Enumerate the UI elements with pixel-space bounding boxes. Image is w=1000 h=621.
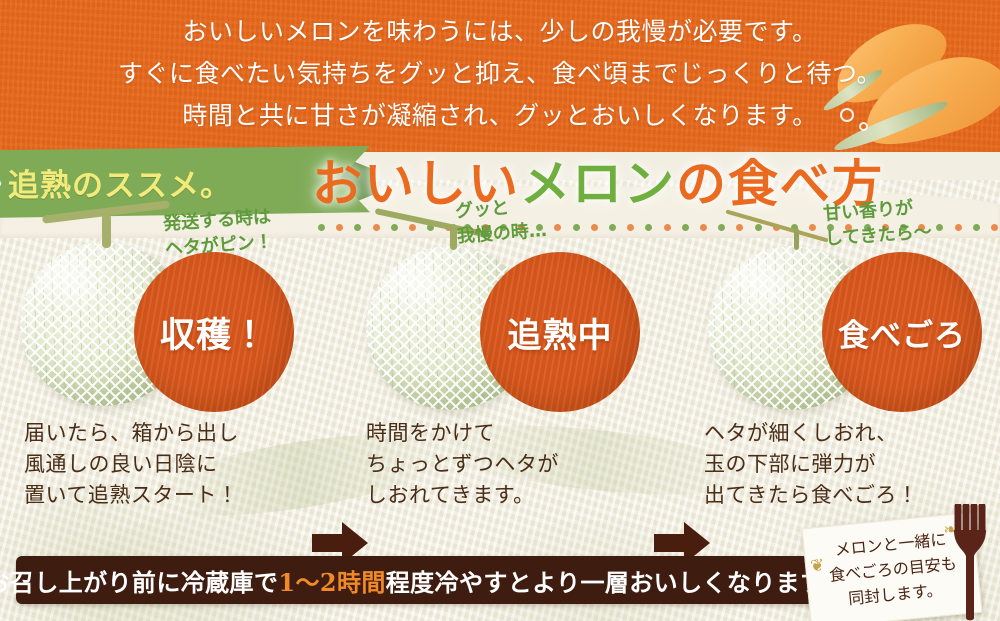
step-3-description: ヘタが細くしおれ、 玉の下部に弾力が 出てきたら食べごろ！ xyxy=(704,418,918,511)
step-3-badge: 食べごろ xyxy=(822,252,982,412)
header-line-2: すぐに食べたい気持ちをグッと抑え、食べ頃までじっくりと待つ。 xyxy=(0,53,1000,95)
step-1-badge-label: 収穫！ xyxy=(160,307,268,358)
step-2-description: 時間をかけて ちょっとずつヘタが しおれてきます。 xyxy=(366,418,559,511)
bottom-tip-bar: お召し上がり前に冷蔵庫で1〜2時間程度冷やすとより一層おいしくなります。 xyxy=(16,556,816,604)
header-banner: おいしいメロンを味わうには、少しの我慢が必要です。 すぐに食べたい気持ちをグッと… xyxy=(0,0,1000,152)
step-1-handnote: 発送する時は ヘタがピン！ xyxy=(162,204,273,261)
step-1-description: 届いたら、箱から出し 風通しの良い日陰に 置いて追熟スタート！ xyxy=(24,418,239,511)
step-2-handnote: グッと 我慢の時… xyxy=(454,193,547,249)
fork-icon xyxy=(950,504,992,621)
step-harvest: 発送する時は ヘタがピン！ 収穫！ 届いたら、箱から出し 風通しの良い日陰に 置… xyxy=(6,190,324,520)
header-line-1: おいしいメロンを味わうには、少しの我慢が必要です。 xyxy=(0,11,1000,53)
step-1-badge: 収穫！ xyxy=(134,252,294,412)
step-2-badge: 追熟中 xyxy=(480,252,640,412)
step-ripening: グッと 我慢の時… 追熟中 時間をかけて ちょっとずつヘタが しおれてきます。 xyxy=(352,190,670,520)
infographic-root: おいしいメロンを味わうには、少しの我慢が必要です。 すぐに食べたい気持ちをグッと… xyxy=(0,0,1000,621)
bottom-tip-text: お召し上がり前に冷蔵庫で1〜2時間程度冷やすとより一層おいしくなります。 xyxy=(0,563,846,598)
flourish-ornament-icon: ❦ xyxy=(809,553,835,579)
step-3-badge-label: 食べごろ xyxy=(838,310,966,355)
bottom-tip-before: お召し上がり前に冷蔵庫で xyxy=(0,568,278,597)
stem-stalk xyxy=(794,228,799,250)
step-3-handnote: 甘い香りが してきたら〜 xyxy=(822,194,932,251)
stem-crossbar xyxy=(726,209,829,242)
steps-container: 発送する時は ヘタがピン！ 収穫！ 届いたら、箱から出し 風通しの良い日陰に 置… xyxy=(0,190,1000,530)
bottom-tip-after: 程度冷やすとより一層おいしくなります。 xyxy=(386,568,847,597)
header-text-block: おいしいメロンを味わうには、少しの我慢が必要です。 すぐに食べたい気持ちをグッと… xyxy=(0,0,1000,137)
step-2-badge-label: 追熟中 xyxy=(508,308,613,357)
bottom-tip-highlight: 1〜2時間 xyxy=(278,568,385,597)
step-ready-to-eat: 甘い香りが してきたら〜 食べごろ ヘタが細くしおれ、 玉の下部に弾力が 出てき… xyxy=(694,190,1000,520)
header-line-3: 時間と共に甘さが凝縮され、グッとおいしくなります。 xyxy=(0,95,1000,137)
stem-stalk xyxy=(102,214,111,248)
